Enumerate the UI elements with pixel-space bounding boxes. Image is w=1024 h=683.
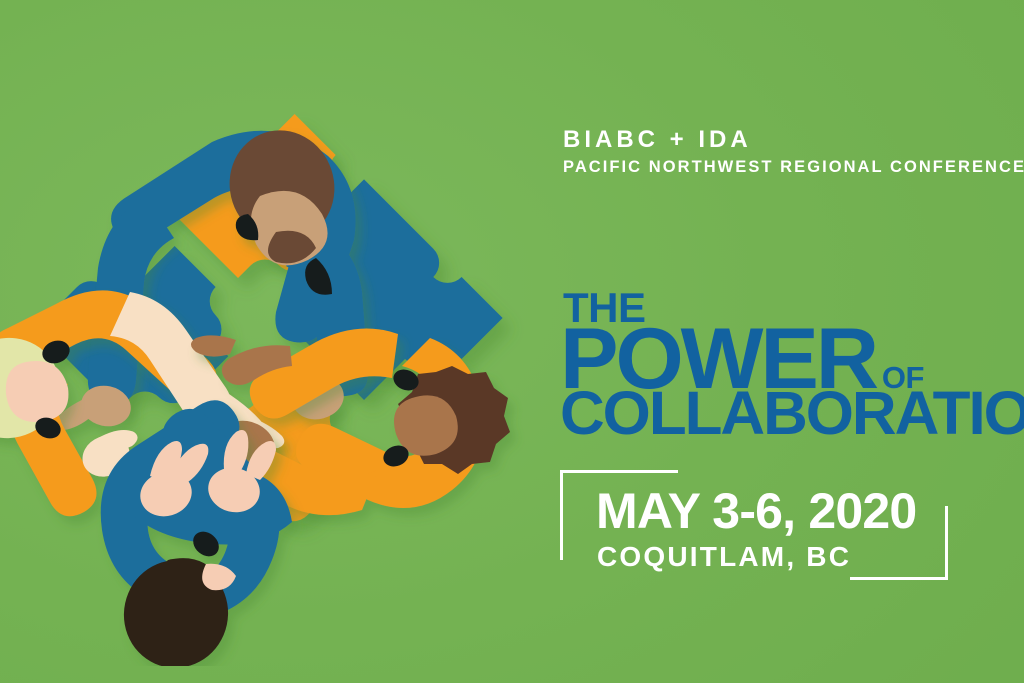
conference-banner: BIABC + IDA PACIFIC NORTHWEST REGIONAL C… [0,0,1024,683]
event-details-block: MAY 3-6, 2020 COQUITLAM, BC [560,468,960,586]
bracket-bottom-right-horizontal [850,577,948,580]
event-dates: MAY 3-6, 2020 [596,486,916,536]
text-column: BIABC + IDA PACIFIC NORTHWEST REGIONAL C… [0,0,1024,683]
organizations-title: BIABC + IDA [563,128,752,152]
event-location: COQUITLAM, BC [597,543,851,571]
bracket-top-left-vertical [560,470,563,560]
conference-subtitle: PACIFIC NORTHWEST REGIONAL CONFERENCE [563,159,1024,176]
title-line-collaboration: COLLABORATION [560,383,1024,444]
bracket-top-left-horizontal [560,470,678,473]
bracket-bottom-right-vertical [945,506,948,580]
